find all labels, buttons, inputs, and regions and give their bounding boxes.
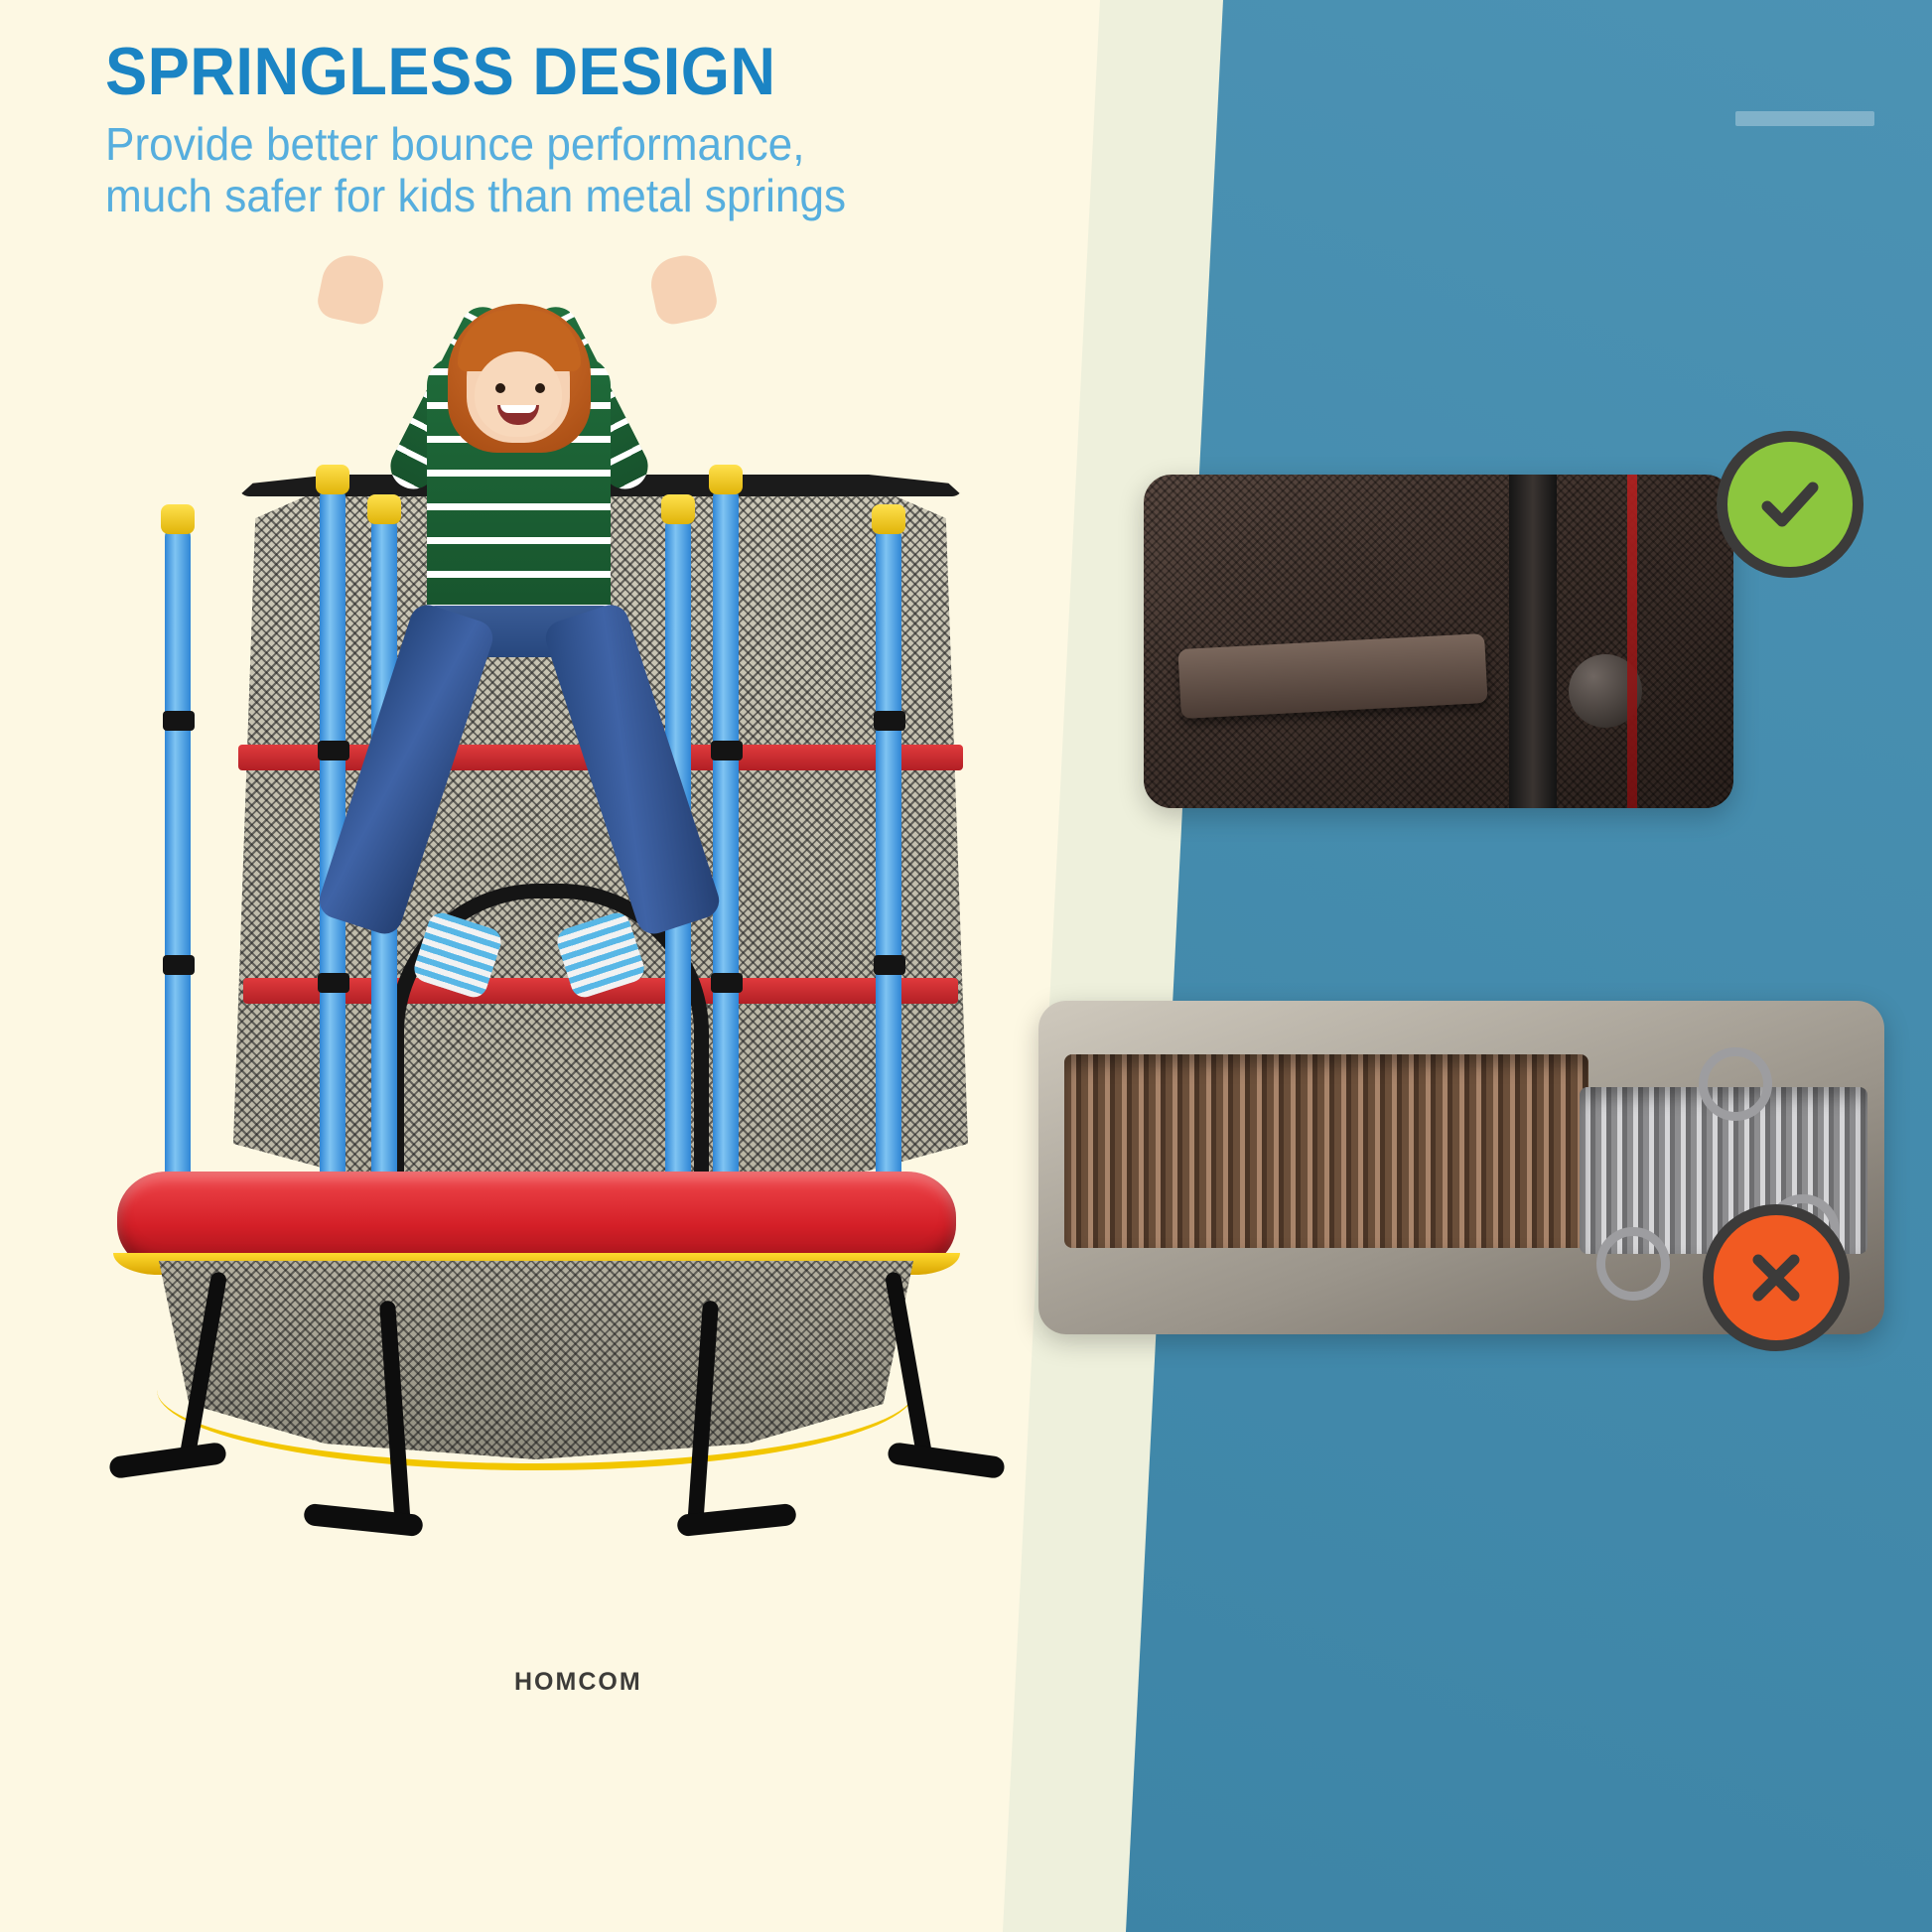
pole-far-left xyxy=(165,524,191,1219)
child-hand-left xyxy=(315,250,388,327)
subtitle-line-1: Provide better bounce performance, xyxy=(105,119,1087,171)
fabric-strap xyxy=(1509,475,1557,808)
accent-bar xyxy=(1735,111,1874,126)
skirt-yellow-edge xyxy=(157,1390,915,1470)
child-jumping xyxy=(263,248,789,963)
subtitle-line-2: much safer for kids than metal springs xyxy=(105,171,1087,222)
pole-clip-6 xyxy=(318,973,349,993)
product-photo-trampoline: HOMCOM xyxy=(69,248,1072,1598)
pole-clip-7 xyxy=(711,973,743,993)
spring-hook-1 xyxy=(1699,1047,1772,1121)
cross-icon xyxy=(1703,1204,1850,1351)
pole-cap-far-right xyxy=(872,504,905,534)
pole-far-right xyxy=(876,524,901,1219)
foot-right xyxy=(887,1442,1006,1479)
pole-clip-5 xyxy=(163,955,195,975)
pole-cap-far-left xyxy=(161,504,195,534)
product-infographic: SPRINGLESS DESIGN Provide better bounce … xyxy=(0,0,1932,1932)
leg-right xyxy=(885,1271,934,1469)
red-stitch-line xyxy=(1627,475,1637,808)
springless-elastic-rope-photo xyxy=(1144,475,1733,808)
brand-logo: HOMCOM xyxy=(514,1668,683,1702)
foot-left xyxy=(108,1442,227,1479)
child-eye-left xyxy=(495,383,505,393)
child-leg-right xyxy=(541,601,724,938)
thumbnail-springless-detail[interactable] xyxy=(1144,475,1733,808)
page-title: SPRINGLESS DESIGN xyxy=(105,38,1056,105)
fabric-fold xyxy=(1177,633,1487,719)
pole-clip-4 xyxy=(874,711,905,731)
check-icon xyxy=(1717,431,1863,578)
spring-hook-3 xyxy=(1596,1227,1670,1301)
pole-clip-8 xyxy=(874,955,905,975)
rusty-spring-coils xyxy=(1064,1054,1588,1248)
child-eye-right xyxy=(535,383,545,393)
child-hand-right xyxy=(646,250,720,327)
pole-clip-1 xyxy=(163,711,195,731)
headline-block: SPRINGLESS DESIGN Provide better bounce … xyxy=(105,38,1128,222)
child-leg-left xyxy=(315,601,497,938)
